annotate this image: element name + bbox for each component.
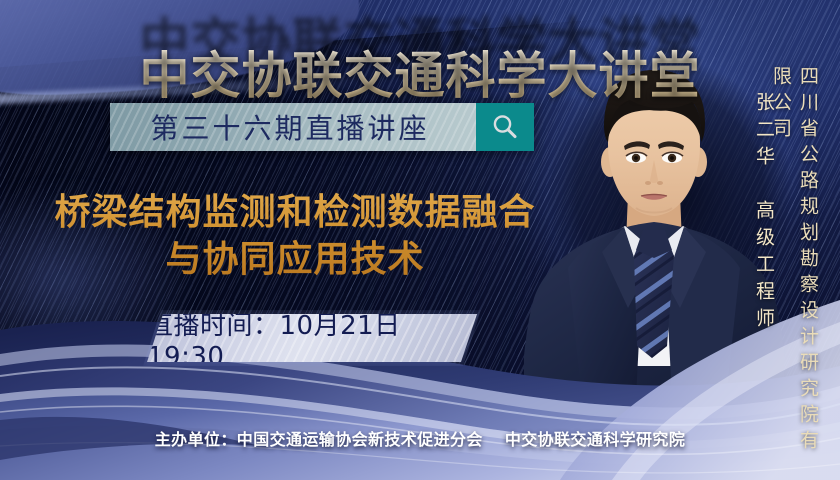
live-time-label: 直播时间：10月21日19:30 xyxy=(147,314,477,362)
lecture-title-line2: 与协同应用技术 xyxy=(30,237,560,284)
subtitle-bar-text-area: 第三十六期直播讲座 xyxy=(110,103,476,151)
search-icon xyxy=(476,103,534,151)
footer-host-2: 中交协联交通科学研究院 xyxy=(505,430,685,449)
speaker-organization-vertical: 四川省公路规划勘察设计研究院有限公司 xyxy=(768,66,822,480)
main-title: 中交协联交通科学大讲堂 xyxy=(0,48,840,105)
subtitle-label: 第三十六期直播讲座 xyxy=(150,107,429,147)
footer-prefix: 主办单位： xyxy=(155,430,237,449)
footer-hosts: 主办单位：中国交通运输协会新技术促进分会中交协联交通科学研究院 xyxy=(0,426,840,450)
footer-host-1: 中国交通运输协会新技术促进分会 xyxy=(237,430,483,449)
lecture-title-line1: 桥梁结构监测和检测数据融合 xyxy=(30,190,560,237)
lecture-title: 桥梁结构监测和检测数据融合 与协同应用技术 xyxy=(30,190,560,284)
live-time-badge: 直播时间：10月21日19:30 xyxy=(147,314,477,362)
poster-canvas: 中交协联交通科学大讲堂 中交协联交通科学大讲堂 第三十六期直播讲座 桥梁结构监测… xyxy=(0,0,840,480)
subtitle-bar: 第三十六期直播讲座 xyxy=(110,103,534,151)
